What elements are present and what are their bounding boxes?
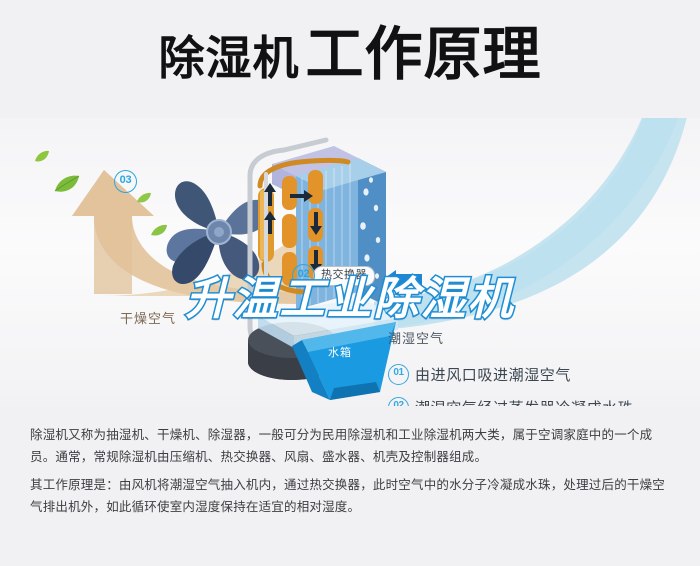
page-title: 除湿机工作原理	[0, 26, 700, 84]
label-water-tank: 水箱	[328, 344, 352, 360]
step-text-02: 潮湿空气经过蒸发器冷凝成水珠	[415, 397, 633, 406]
step-number-02: 02	[388, 397, 409, 406]
infographic-page: 除湿机工作原理	[0, 0, 700, 566]
heat-exchanger-callout: 热交换器	[313, 266, 375, 286]
step-item: 02潮湿空气经过蒸发器冷凝成水珠	[388, 397, 688, 406]
steps-list: 01由进风口吸进潮湿空气 02潮湿空气经过蒸发器冷凝成水珠 03从上部出风口吹出…	[388, 364, 688, 406]
illustration-badge-02: 02	[292, 264, 315, 287]
page-title-topic: 工作原理	[305, 22, 541, 87]
body-copy: 除湿机又称为抽湿机、干燥机、除湿器，一般可分为民用除湿机和工业除湿机两大类，属于…	[0, 406, 700, 566]
leaf-icon	[54, 174, 80, 194]
step-item: 01由进风口吸进潮湿空气	[388, 364, 688, 397]
title-band: 除湿机工作原理	[0, 0, 700, 122]
page-title-product: 除湿机	[158, 32, 299, 84]
illustration-stage: 热交换器 01 02 03 潮湿空气 干燥空气 水箱 01由进风口吸进潮湿空气 …	[0, 118, 700, 406]
step-number-01: 01	[388, 364, 409, 385]
air-inlet-arrow-icon	[382, 270, 422, 290]
paragraph-principle: 其工作原理是：由风机将潮湿空气抽入机内，通过热交换器，此时空气中的水分子冷凝成水…	[30, 474, 675, 518]
humid-air-flow-band	[372, 118, 700, 402]
callout-tail-icon	[339, 284, 352, 295]
leaf-icon	[34, 150, 50, 164]
label-dry-air: 干燥空气	[120, 308, 176, 327]
paragraph-definition: 除湿机又称为抽湿机、干燥机、除湿器，一般可分为民用除湿机和工业除湿机两大类，属于…	[30, 424, 675, 468]
illustration-badge-03: 03	[114, 170, 137, 193]
illustration-badge-01: 01	[383, 294, 406, 317]
label-humid-air: 潮湿空气	[388, 328, 444, 347]
step-text-01: 由进风口吸进潮湿空气	[415, 364, 571, 385]
leaf-icon	[136, 192, 152, 205]
